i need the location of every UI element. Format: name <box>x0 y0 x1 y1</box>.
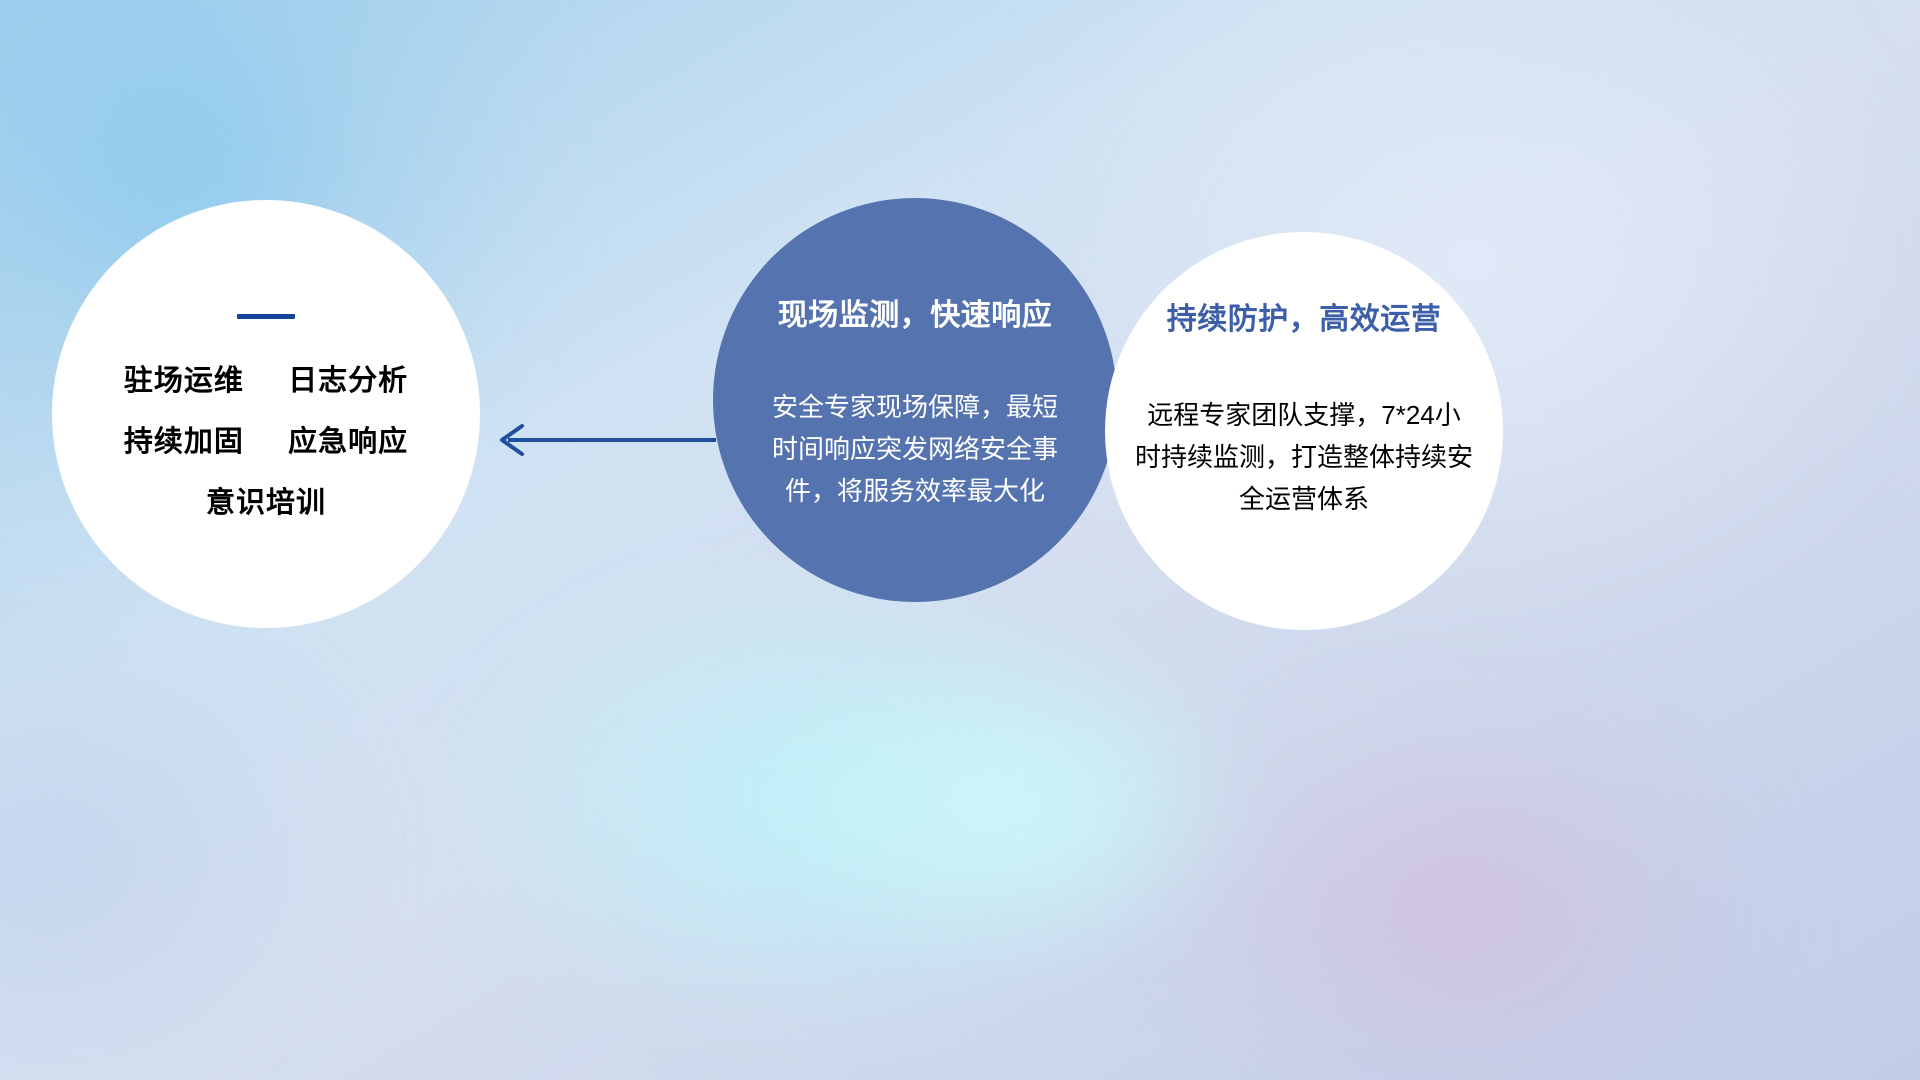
continuous-protection-title: 持续防护，高效运营 <box>1167 294 1442 338</box>
arrow-connector-left <box>488 418 718 462</box>
onsite-monitoring-circle: 现场监测，快速响应 安全专家现场保障，最短时间响应突发网络安全事件，将服务效率最… <box>713 198 1117 602</box>
continuous-protection-circle: 持续防护，高效运营 远程专家团队支撑，7*24小时持续监测，打造整体持续安全运营… <box>1105 232 1503 630</box>
capability-label: 驻场运维 <box>124 365 244 397</box>
divider-dash <box>237 314 295 319</box>
list-item: 驻场运维 日志分析 <box>124 367 408 396</box>
continuous-protection-body: 远程专家团队支撑，7*24小时持续监测，打造整体持续安全运营体系 <box>1135 394 1473 520</box>
capability-label: 持续加固 <box>124 426 244 458</box>
background-glow-pink <box>1150 690 1770 1080</box>
onsite-monitoring-body: 安全专家现场保障，最短时间响应突发网络安全事件，将服务效率最大化 <box>760 386 1070 512</box>
list-item: 持续加固 应急响应 <box>124 428 408 457</box>
onsite-monitoring-title: 现场监测，快速响应 <box>778 290 1053 334</box>
capability-label: 应急响应 <box>288 426 408 458</box>
capability-label: 意识培训 <box>206 487 326 519</box>
background-glow-cyan-core <box>760 640 1280 970</box>
slide-canvas: 驻场运维 日志分析 持续加固 应急响应 意识培训 现场监测，快速响应 安全专家现… <box>0 0 1920 1080</box>
background-glow-cyan <box>430 560 1210 1040</box>
list-item: 意识培训 <box>206 489 326 518</box>
capability-label: 日志分析 <box>288 365 408 397</box>
background-glow-lavender <box>0 600 360 1080</box>
left-capability-circle: 驻场运维 日志分析 持续加固 应急响应 意识培训 <box>52 200 480 628</box>
